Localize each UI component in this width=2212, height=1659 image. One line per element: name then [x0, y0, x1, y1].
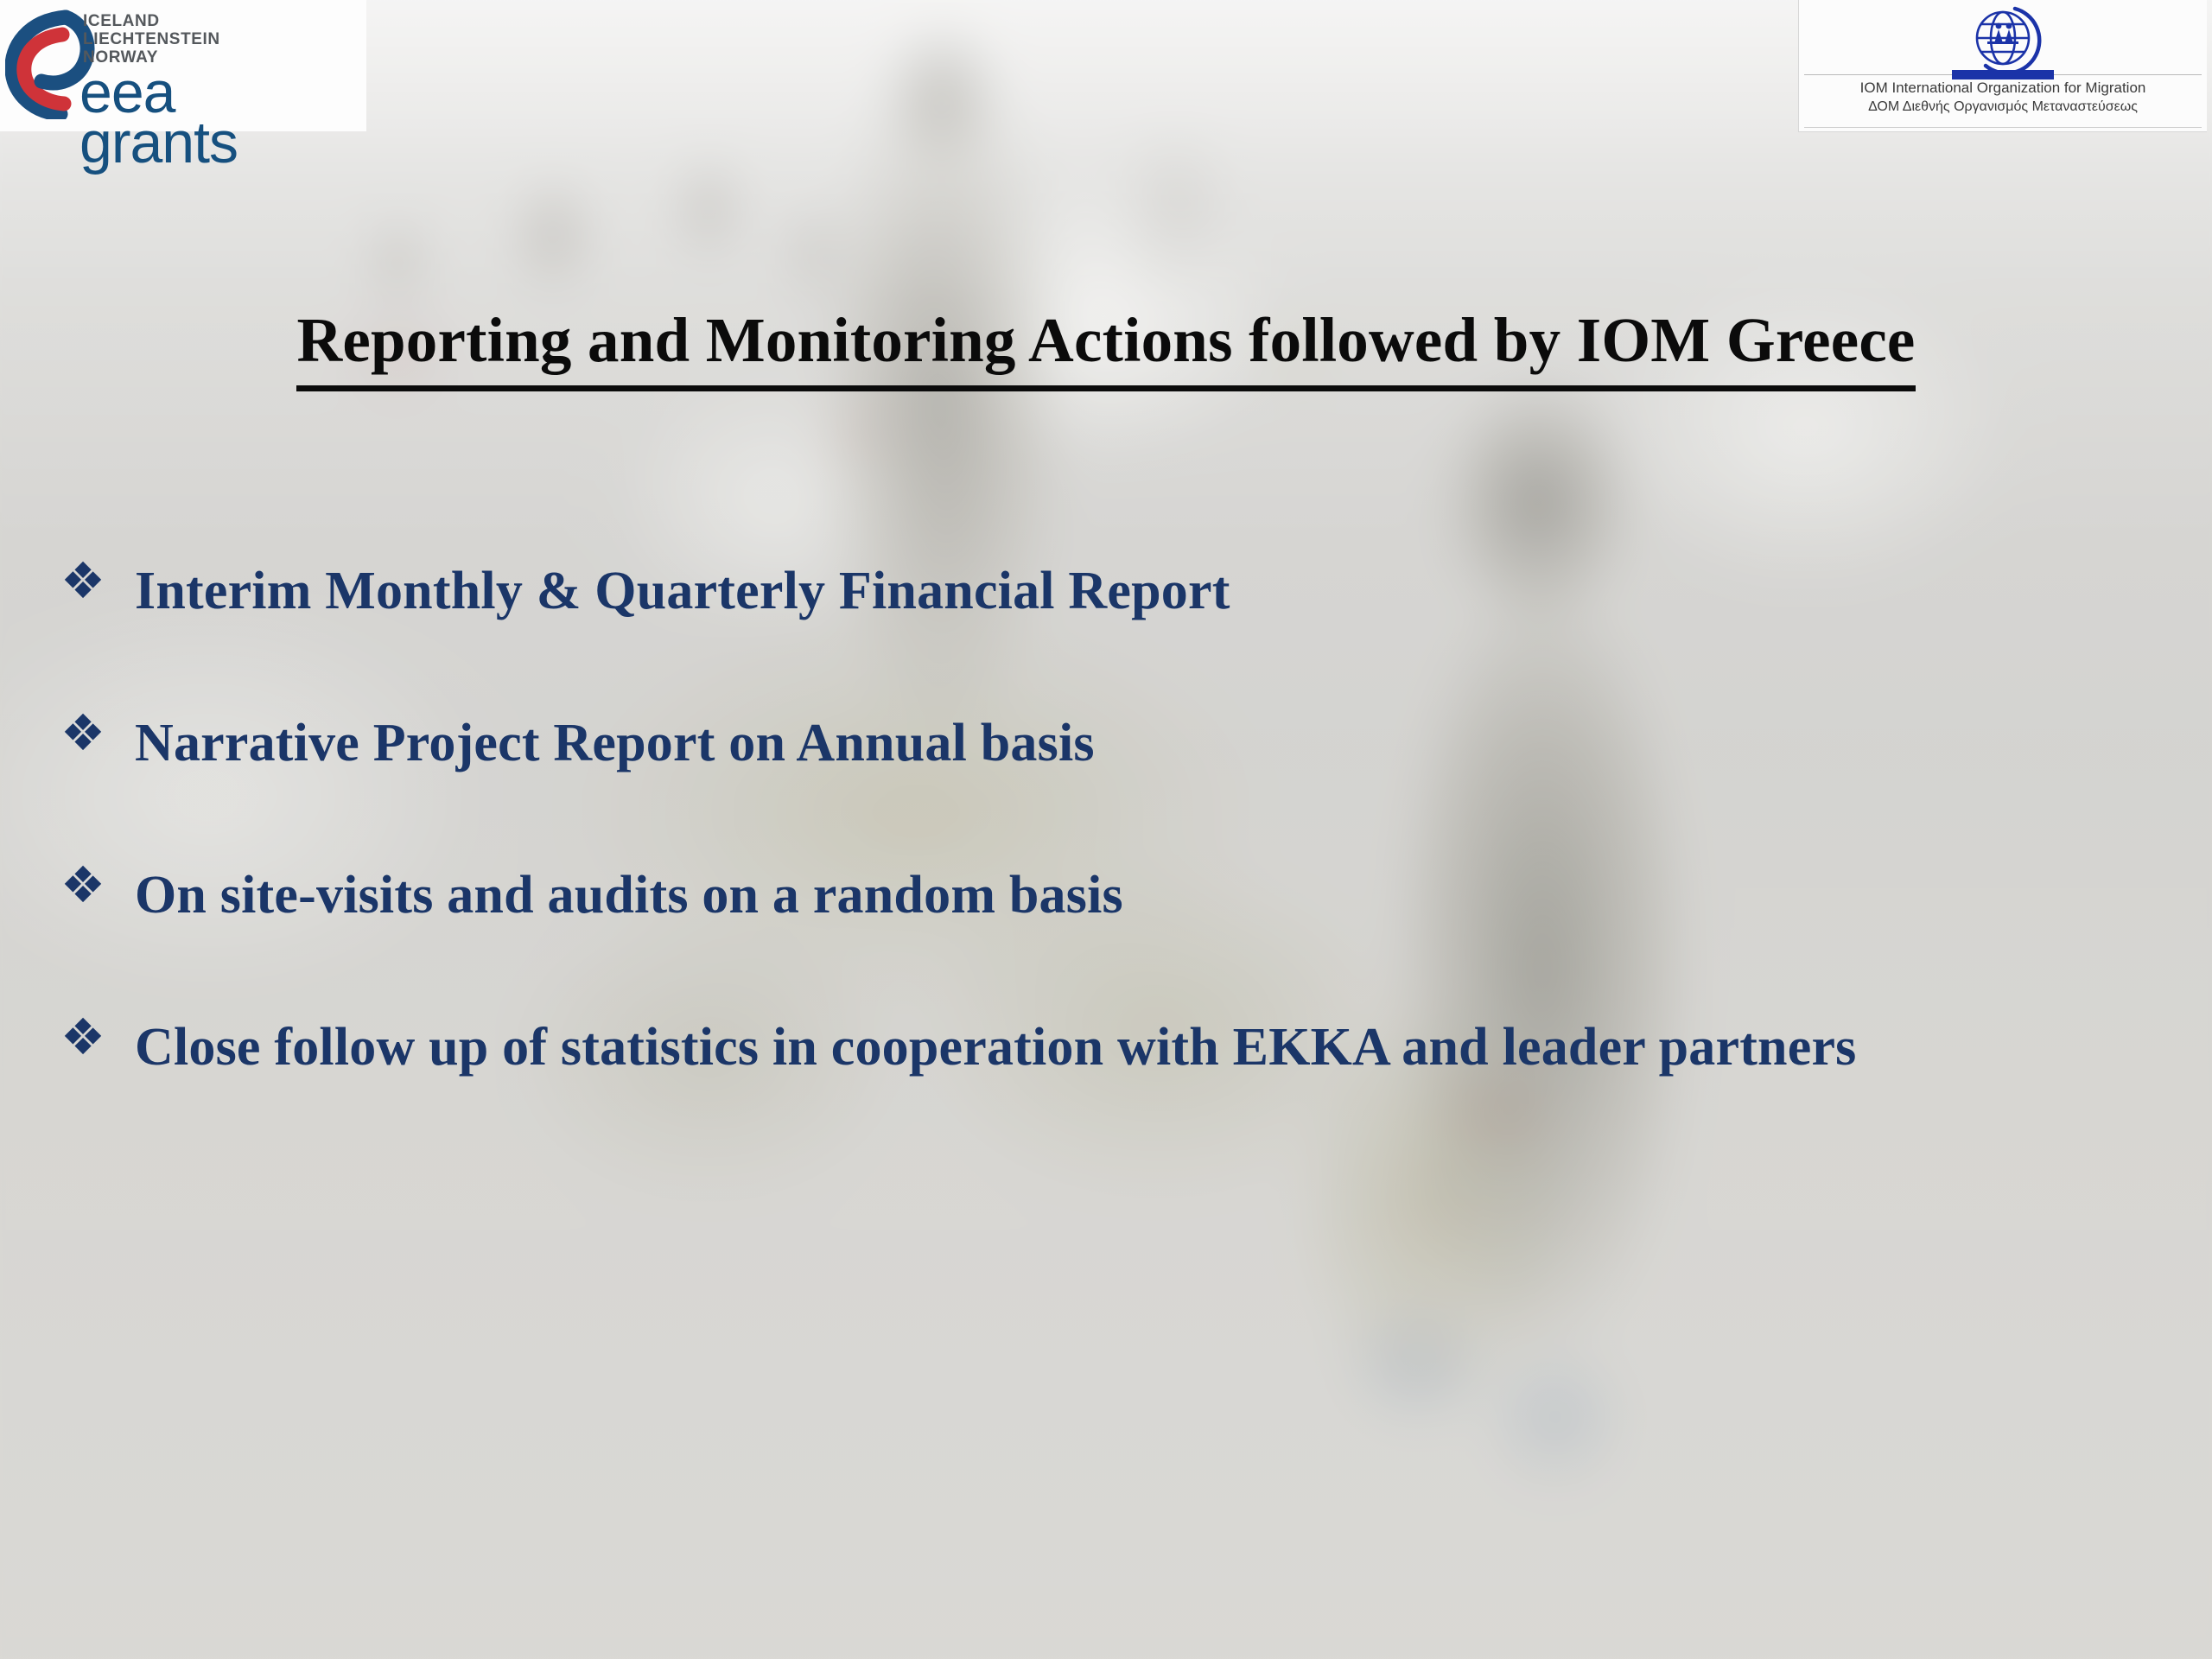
bullet-list: ❖ Interim Monthly & Quarterly Financial … [60, 549, 2152, 1157]
list-item-text: On site-visits and audits on a random ba… [135, 853, 2152, 938]
diamond-bullet-icon: ❖ [60, 1005, 135, 1062]
list-item: ❖ Interim Monthly & Quarterly Financial … [60, 549, 2152, 633]
eea-wordmark-line-2: grants [79, 118, 238, 168]
presentation-slide: ICELAND LIECHTENSTEIN NORWAY eea grants [0, 0, 2212, 1659]
slide-title: Reporting and Monitoring Actions followe… [0, 304, 2212, 377]
iom-name-greek: ΔΟΜ Διεθνής Οργανισμός Μεταναστεύσεως [1799, 99, 2207, 115]
eea-wordmark: eea grants [79, 67, 238, 168]
eea-donor-countries: ICELAND LIECHTENSTEIN NORWAY [83, 12, 220, 67]
iom-logo: IOM International Organization for Migra… [1798, 0, 2207, 132]
diamond-bullet-icon: ❖ [60, 853, 135, 910]
diamond-bullet-icon: ❖ [60, 549, 135, 606]
slide-title-text: Reporting and Monitoring Actions followe… [296, 305, 1915, 391]
iom-bottom-divider [1804, 127, 2202, 128]
list-item: ❖ Close follow up of statistics in coope… [60, 1005, 2152, 1090]
iom-name-english: IOM International Organization for Migra… [1799, 79, 2207, 97]
list-item-text: Interim Monthly & Quarterly Financial Re… [135, 549, 2152, 633]
list-item: ❖ On site-visits and audits on a random … [60, 853, 2152, 938]
list-item-text: Close follow up of statistics in coopera… [135, 1005, 2152, 1090]
eea-grants-logo: ICELAND LIECHTENSTEIN NORWAY eea grants [0, 0, 366, 131]
list-item: ❖ Narrative Project Report on Annual bas… [60, 701, 2152, 785]
eea-donor-line-1: ICELAND [83, 12, 220, 30]
iom-accent-bar [1952, 70, 2054, 79]
eea-donor-line-2: LIECHTENSTEIN [83, 30, 220, 48]
diamond-bullet-icon: ❖ [60, 701, 135, 758]
list-item-text: Narrative Project Report on Annual basis [135, 701, 2152, 785]
iom-globe-icon [1961, 3, 2044, 76]
